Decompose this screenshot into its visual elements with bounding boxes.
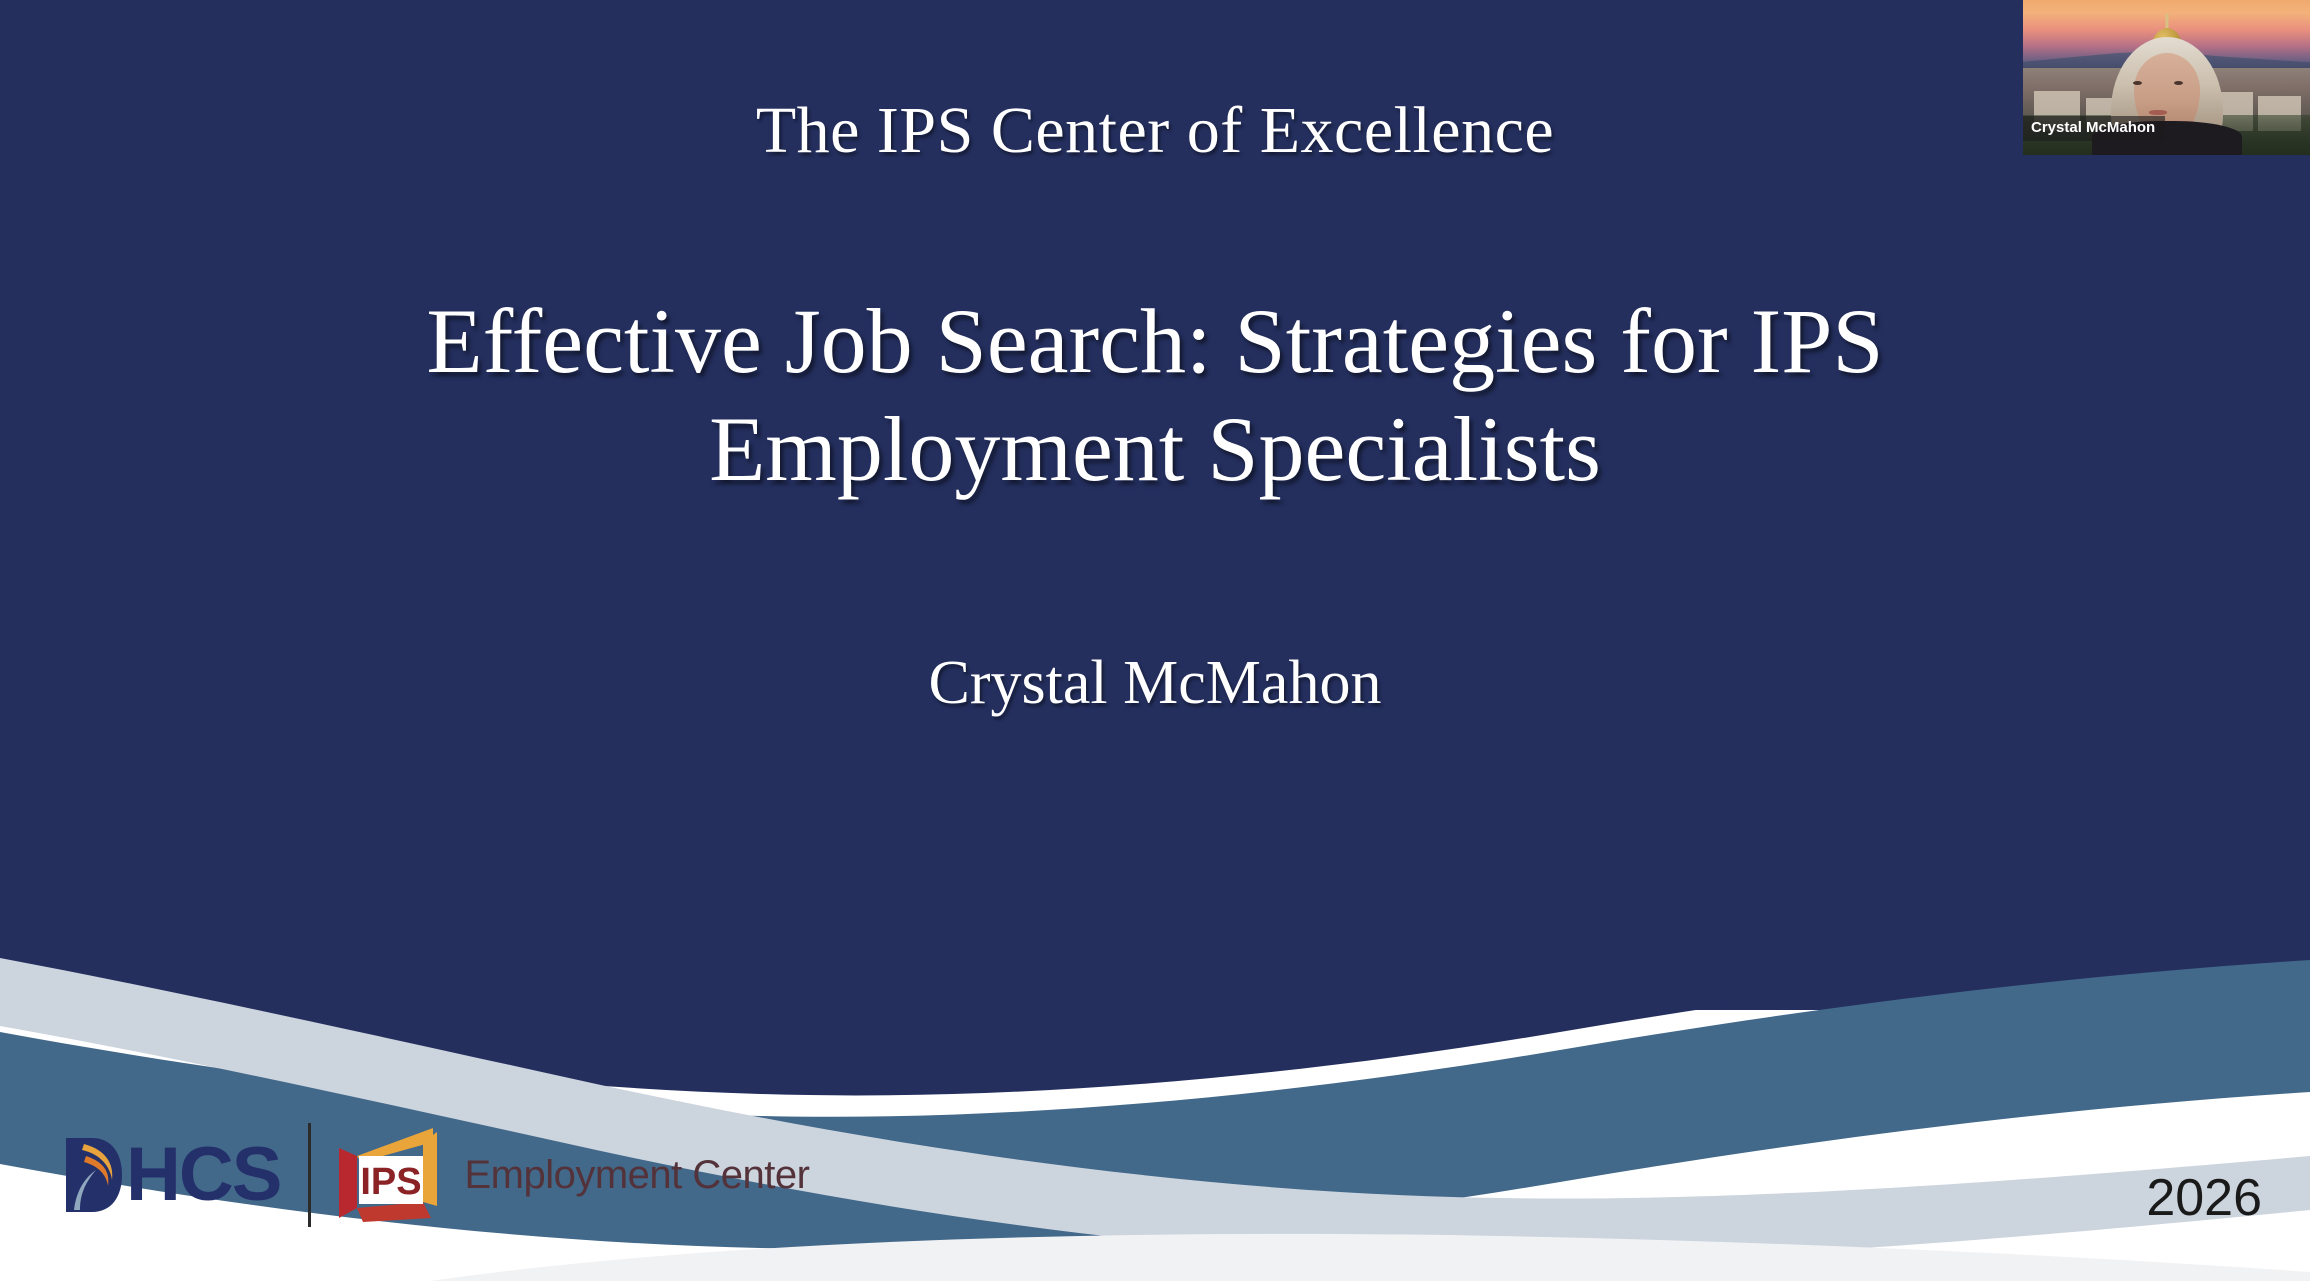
dhcs-logo: HCS [62,1133,280,1217]
dhcs-d-mark-icon [62,1136,124,1214]
footer-logo-lockup: HCS IPS Employment Center [62,1120,809,1230]
svg-text:IPS: IPS [361,1161,422,1203]
slide-background-navy [0,0,2310,1010]
ips-tagline: Employment Center [464,1153,809,1198]
presentation-slide: The IPS Center of Excellence Effective J… [0,0,2310,1281]
participant-mouth [2149,110,2167,115]
slide-year: 2026 [2146,1168,2262,1228]
participant-video-tile[interactable]: Crystal McMahon [2023,0,2310,155]
participant-eye-left [2133,81,2142,85]
ips-employment-center-logo: IPS Employment Center [337,1126,809,1224]
ips-box-mark-icon: IPS [337,1126,442,1224]
logo-divider [308,1123,311,1227]
participant-eye-right [2174,81,2183,85]
participant-name-label: Crystal McMahon [2023,116,2165,141]
dhcs-wordmark: HCS [126,1136,280,1214]
